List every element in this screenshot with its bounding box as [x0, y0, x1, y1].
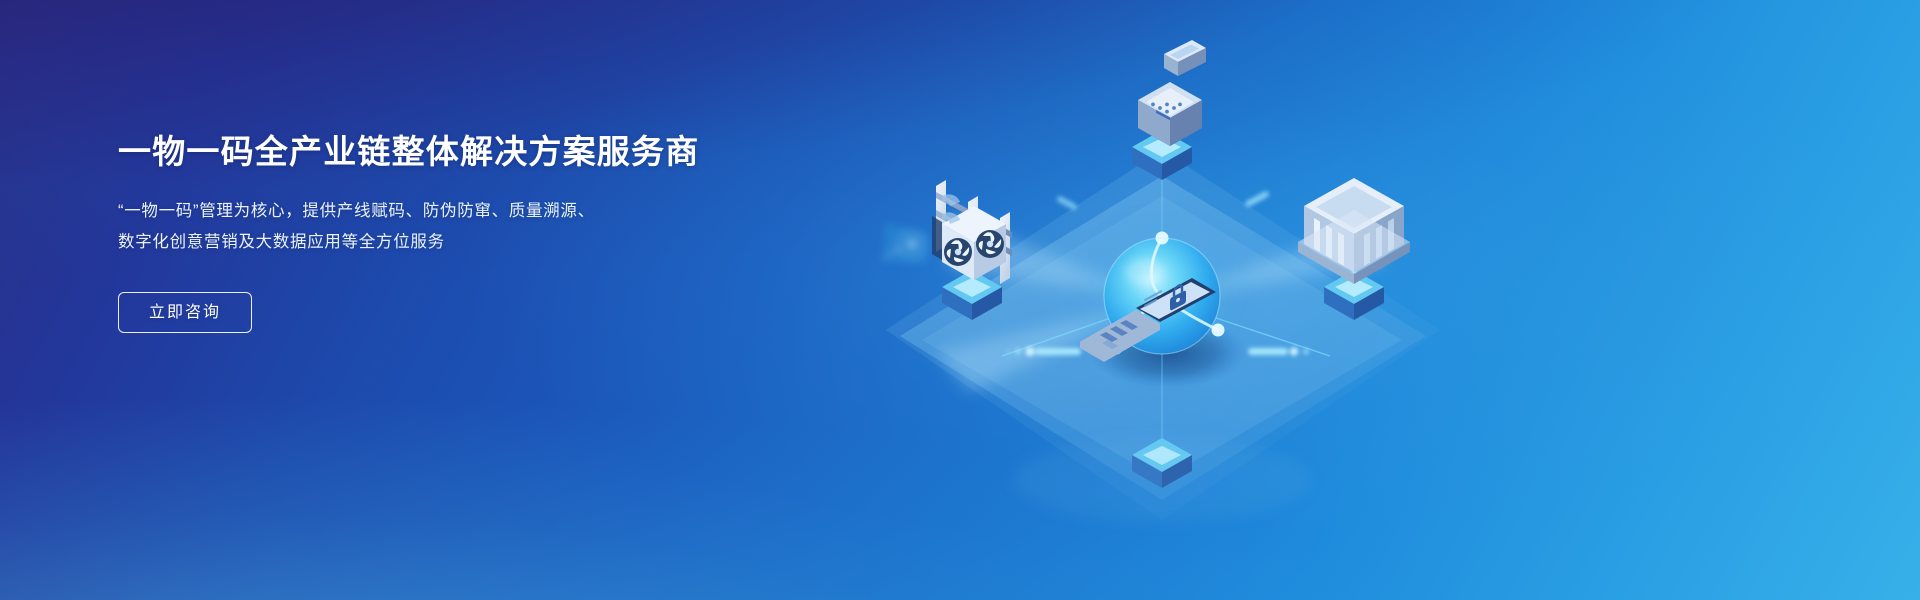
subtitle-line-1: “一物一码”管理为核心，提供产线赋码、防伪防窜、质量溯源、	[118, 196, 878, 227]
hero-subtitle: “一物一码”管理为核心，提供产线赋码、防伪防窜、质量溯源、 数字化创意营销及大数…	[118, 196, 878, 258]
page-title: 一物一码全产业链整体解决方案服务商	[118, 132, 878, 172]
consult-now-button[interactable]: 立即咨询	[118, 292, 252, 333]
hero-banner: 一物一码全产业链整体解决方案服务商 “一物一码”管理为核心，提供产线赋码、防伪防…	[0, 0, 1920, 600]
isometric-network-illustration	[830, 0, 1570, 600]
subtitle-line-2: 数字化创意营销及大数据应用等全方位服务	[118, 227, 878, 258]
server-rack-icon	[881, 180, 1012, 284]
hero-content: 一物一码全产业链整体解决方案服务商 “一物一码”管理为核心，提供产线赋码、防伪防…	[118, 132, 878, 333]
pos-terminal-icon	[1138, 40, 1206, 146]
